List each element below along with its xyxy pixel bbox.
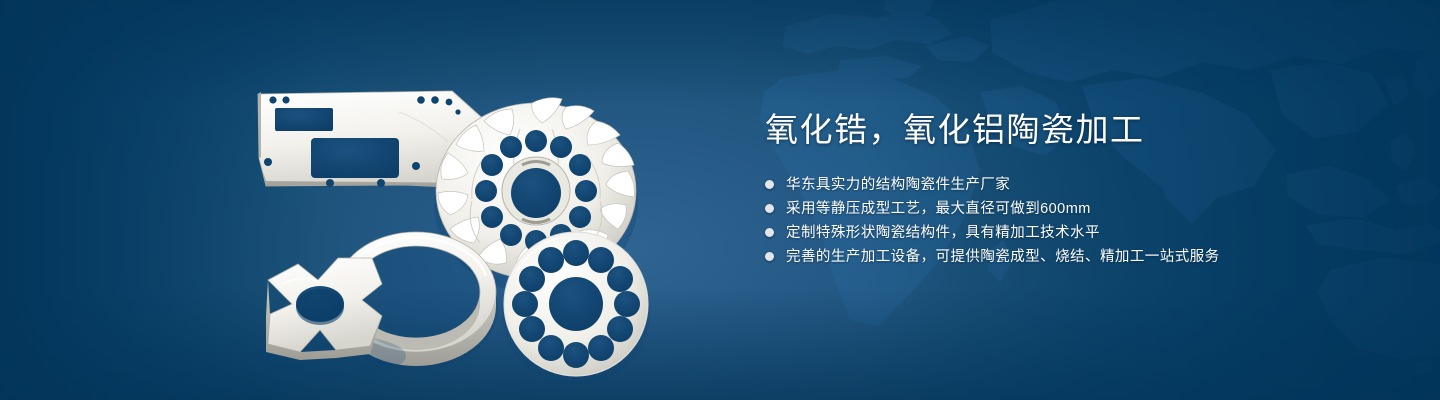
feature-text: 采用等静压成型工艺，最大直径可做到600mm xyxy=(786,200,1091,218)
ceramic-products-banner: 氧化锆，氧化铝陶瓷加工 华东具实力的结构陶瓷件生产厂家 采用等静压成型工艺，最大… xyxy=(0,0,1440,400)
list-item: 华东具实力的结构陶瓷件生产厂家 xyxy=(765,176,1385,194)
bullet-dot-icon xyxy=(765,204,774,213)
feature-text: 完善的生产加工设备，可提供陶瓷成型、烧结、精加工一站式服务 xyxy=(786,248,1220,266)
page-title: 氧化锆，氧化铝陶瓷加工 xyxy=(765,108,1385,152)
list-item: 完善的生产加工设备，可提供陶瓷成型、烧结、精加工一站式服务 xyxy=(765,248,1385,266)
bullet-dot-icon xyxy=(765,228,774,237)
ceramic-hole-disc xyxy=(502,232,650,384)
list-item: 采用等静压成型工艺，最大直径可做到600mm xyxy=(765,200,1385,218)
banner-copy-block: 氧化锆，氧化铝陶瓷加工 华东具实力的结构陶瓷件生产厂家 采用等静压成型工艺，最大… xyxy=(765,108,1385,272)
bullet-dot-icon xyxy=(765,252,774,261)
bullet-dot-icon xyxy=(765,180,774,189)
feature-text: 华东具实力的结构陶瓷件生产厂家 xyxy=(786,176,1010,194)
list-item: 定制特殊形状陶瓷结构件，具有精加工技术水平 xyxy=(765,224,1385,242)
feature-text: 定制特殊形状陶瓷结构件，具有精加工技术水平 xyxy=(786,224,1100,242)
ceramic-products-image xyxy=(236,36,686,384)
feature-list: 华东具实力的结构陶瓷件生产厂家 采用等静压成型工艺，最大直径可做到600mm 定… xyxy=(765,176,1385,266)
